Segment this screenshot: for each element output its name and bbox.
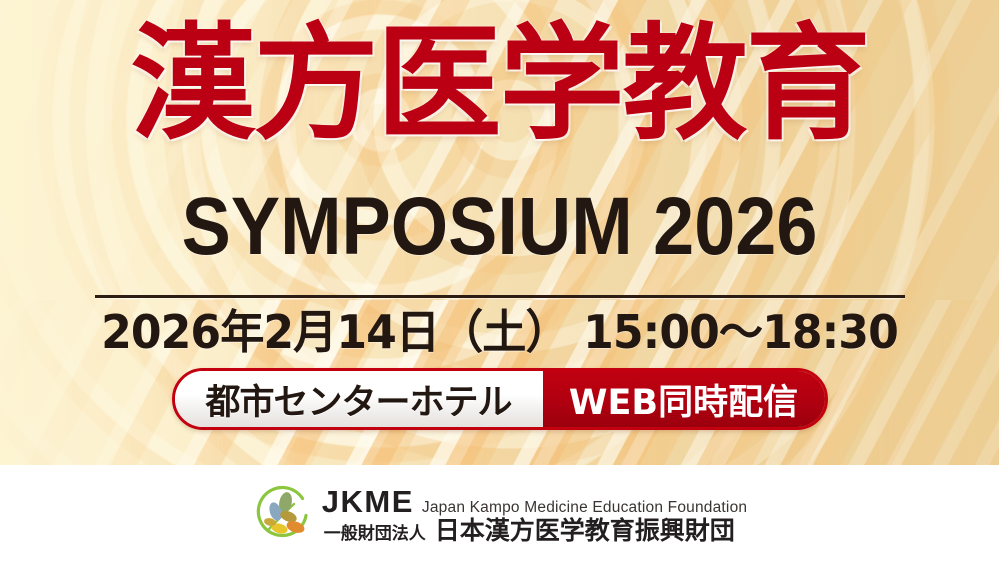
symposium-banner: 漢方医学教育 SYMPOSIUM 2026 2026年2月14日（土） 15:0… — [0, 0, 999, 562]
org-japanese-name: 日本漢方医学教育振興財団 — [435, 518, 735, 543]
main-title-kanji: 漢方医学教育 — [0, 22, 999, 147]
symposium-heading: SYMPOSIUM 2026 — [50, 186, 949, 268]
jkme-logo-line1: JKME Japan Kampo Medicine Education Foun… — [322, 486, 747, 517]
footer-bar: JKME Japan Kampo Medicine Education Foun… — [0, 465, 999, 562]
jkme-logo-text: JKME Japan Kampo Medicine Education Foun… — [322, 486, 747, 543]
jkme-leaf-circle-icon — [252, 484, 314, 546]
venue-badge: 都市センターホテル — [175, 371, 543, 427]
web-stream-badge: WEB同時配信 — [543, 371, 825, 427]
event-date-time: 2026年2月14日（土） 15:00〜18:30 — [20, 305, 979, 360]
divider-rule — [95, 295, 905, 298]
jkme-abbreviation: JKME — [322, 486, 414, 517]
venue-badge-group: 都市センターホテル WEB同時配信 — [172, 368, 828, 430]
org-legal-prefix: 一般財団法人 — [324, 526, 426, 543]
jkme-logo: JKME Japan Kampo Medicine Education Foun… — [252, 484, 747, 546]
jkme-english-name: Japan Kampo Medicine Education Foundatio… — [422, 500, 747, 516]
jkme-logo-line2: 一般財団法人 日本漢方医学教育振興財団 — [322, 518, 747, 543]
